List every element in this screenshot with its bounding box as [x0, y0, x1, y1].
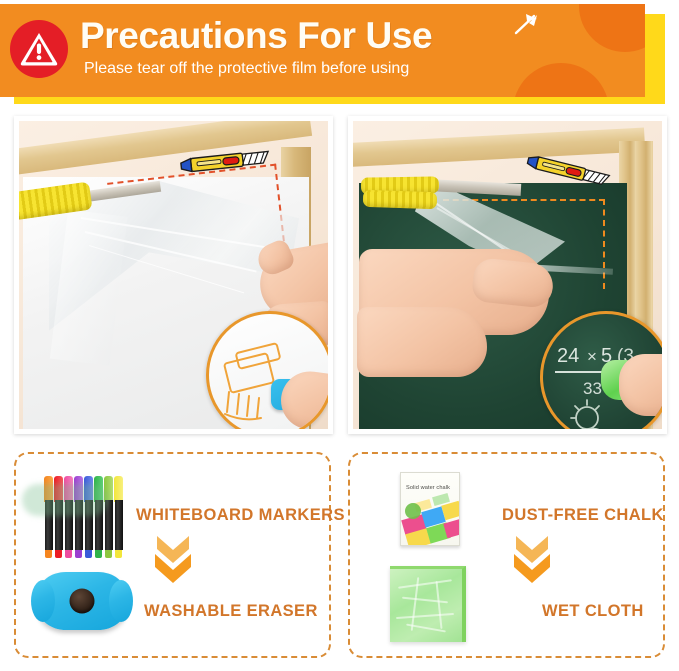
svg-text:33: 33: [583, 379, 602, 398]
hand-wrist: [357, 307, 487, 377]
header-banner: Precautions For Use Please tear off the …: [0, 0, 679, 112]
chalkboard-photo: 24 × 5 (3 33: [348, 116, 667, 434]
chalkboard-supplies-panel: Solid water chalk DUST-FREE CHALK WET CL…: [348, 452, 665, 658]
eraser-shadow: [22, 484, 108, 516]
chalk-box-icon: Solid water chalk: [400, 472, 460, 546]
scraper-handle-second: [363, 190, 438, 210]
marker: [104, 476, 113, 558]
dust-free-chalk-label: DUST-FREE CHALK: [502, 506, 664, 525]
warning-triangle-icon: [10, 20, 68, 78]
whiteboard-supplies-panel: WHITEBOARD MARKERS WASHABLE ERASER: [14, 452, 331, 658]
hand: [619, 354, 662, 416]
cloth-icon: [390, 566, 466, 642]
banner-decor-circle-bottom: [513, 63, 609, 97]
infographic-page: Precautions For Use Please tear off the …: [0, 0, 679, 671]
eraser-icon: [38, 572, 126, 630]
banner-decor-circle-top: [579, 4, 645, 52]
double-chevron-down-icon: [152, 534, 194, 589]
page-subtitle: Please tear off the protective film befo…: [84, 60, 409, 78]
page-title: Precautions For Use: [80, 14, 432, 58]
inset-bubble-cloth: 24 × 5 (3 33: [540, 311, 662, 429]
svg-text:24: 24: [557, 345, 579, 367]
whiteboard-photo: [14, 116, 333, 434]
eraser-knob: [70, 589, 95, 614]
wet-cloth-label: WET CLOTH: [542, 602, 644, 621]
marker: [114, 476, 123, 558]
whiteboard-markers-label: WHITEBOARD MARKERS: [136, 506, 345, 525]
svg-text:×: ×: [587, 347, 597, 366]
double-chevron-down-icon: [511, 534, 553, 589]
sparkle-accent-icon: [512, 12, 538, 38]
chalk-box-title: Solid water chalk: [406, 485, 456, 491]
inset-bubble-eraser: [206, 311, 328, 429]
washable-eraser-label: WASHABLE ERASER: [144, 602, 318, 621]
